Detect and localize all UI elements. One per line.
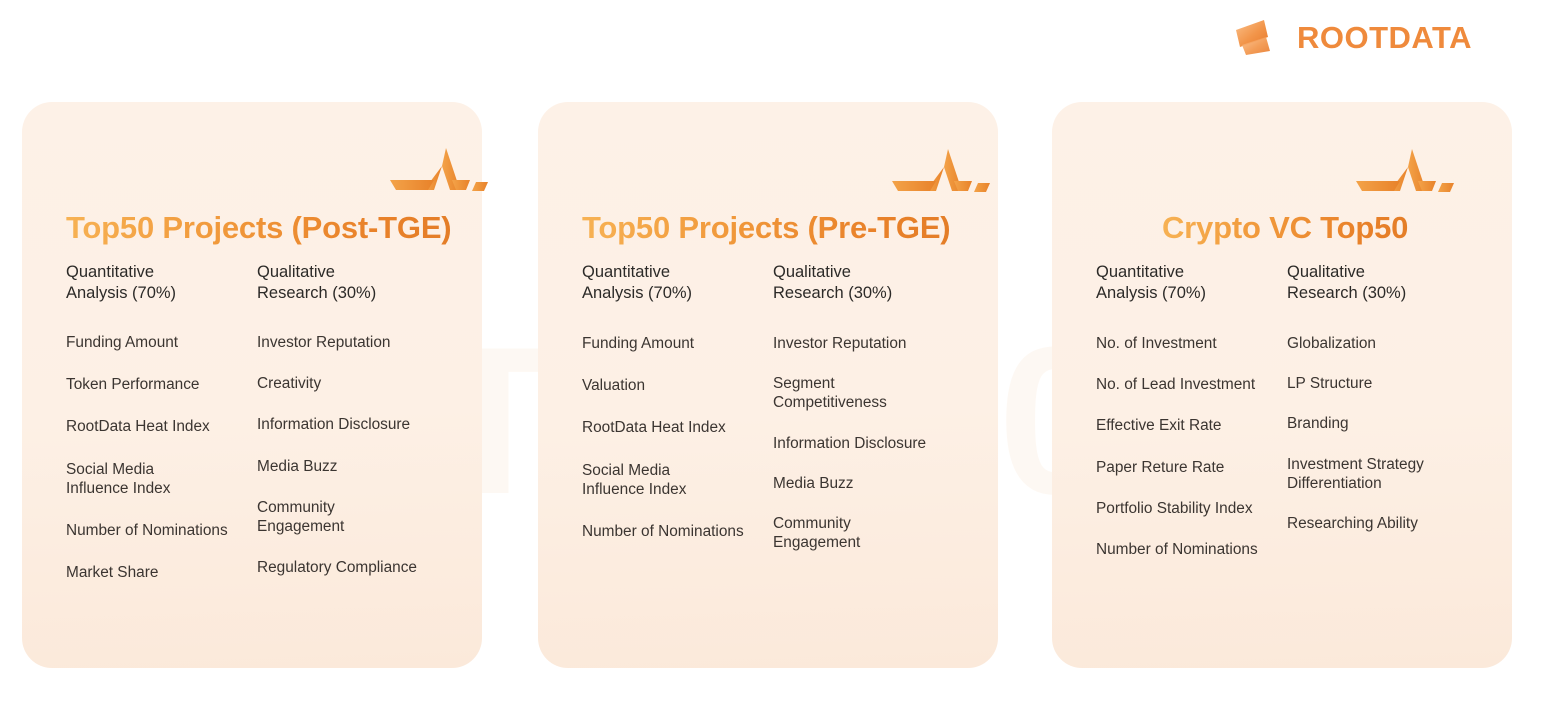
card-header: Top50 Projects (Pre-TGE) bbox=[572, 102, 964, 252]
list-item: Number of Nominations bbox=[1096, 540, 1287, 559]
list-item: Investor Reputation bbox=[257, 333, 448, 352]
criteria-list: No. of Investment No. of Lead Investment… bbox=[1096, 334, 1287, 559]
list-item: Segment Competitiveness bbox=[773, 374, 964, 412]
criteria-list: Investor Reputation Creativity Informati… bbox=[257, 333, 448, 577]
rootdata-peak-icon bbox=[390, 146, 488, 192]
column-qualitative: Qualitative Research (30%) Investor Repu… bbox=[773, 262, 964, 573]
list-item: Branding bbox=[1287, 414, 1478, 433]
rootdata-peak-icon bbox=[1356, 147, 1454, 193]
list-item: RootData Heat Index bbox=[66, 417, 257, 436]
list-item: Effective Exit Rate bbox=[1096, 416, 1287, 435]
column-heading: Quantitative Analysis (70%) bbox=[66, 262, 257, 304]
list-item: Information Disclosure bbox=[257, 415, 448, 434]
column-heading: Qualitative Research (30%) bbox=[1287, 262, 1478, 304]
list-item: Investor Reputation bbox=[773, 334, 964, 353]
card-header: Top50 Projects (Post-TGE) bbox=[56, 102, 448, 252]
list-item: Paper Reture Rate bbox=[1096, 458, 1287, 477]
list-item: Researching Ability bbox=[1287, 514, 1478, 533]
card-columns: Quantitative Analysis (70%) Funding Amou… bbox=[572, 252, 964, 573]
criteria-list: Globalization LP Structure Branding Inve… bbox=[1287, 334, 1478, 533]
list-item: Valuation bbox=[582, 376, 773, 395]
rootdata-brand-logo: ROOTDATA bbox=[1234, 18, 1472, 56]
list-item: Media Buzz bbox=[257, 457, 448, 476]
column-heading: Quantitative Analysis (70%) bbox=[1096, 262, 1287, 304]
list-item: Information Disclosure bbox=[773, 434, 964, 453]
card-title: Crypto VC Top50 bbox=[1162, 210, 1408, 246]
rootdata-peak-icon bbox=[892, 147, 990, 193]
card-top50-post-tge: Top50 Projects (Post-TGE) Quantitative A… bbox=[22, 102, 482, 668]
card-columns: Quantitative Analysis (70%) Funding Amou… bbox=[56, 252, 448, 605]
list-item: Community Engagement bbox=[257, 498, 448, 536]
list-item: Token Performance bbox=[66, 375, 257, 394]
card-header: Crypto VC Top50 bbox=[1086, 102, 1478, 252]
list-item: Social Media Influence Index bbox=[66, 460, 257, 498]
column-qualitative: Qualitative Research (30%) Investor Repu… bbox=[257, 262, 448, 605]
list-item: Market Share bbox=[66, 563, 257, 582]
list-item: Investment Strategy Differentiation bbox=[1287, 455, 1478, 493]
list-item: Funding Amount bbox=[66, 333, 257, 352]
column-quantitative: Quantitative Analysis (70%) Funding Amou… bbox=[582, 262, 773, 573]
criteria-list: Funding Amount Token Performance RootDat… bbox=[66, 333, 257, 582]
list-item: Media Buzz bbox=[773, 474, 964, 493]
card-title: Top50 Projects (Pre-TGE) bbox=[582, 210, 950, 246]
list-item: No. of Investment bbox=[1096, 334, 1287, 353]
list-item: Number of Nominations bbox=[66, 521, 257, 540]
list-item: Regulatory Compliance bbox=[257, 558, 448, 577]
list-item: Funding Amount bbox=[582, 334, 773, 353]
card-crypto-vc-top50: Crypto VC Top50 Quantitative Analysis (7… bbox=[1052, 102, 1512, 668]
list-item: LP Structure bbox=[1287, 374, 1478, 393]
criteria-list: Funding Amount Valuation RootData Heat I… bbox=[582, 334, 773, 541]
card-title: Top50 Projects (Post-TGE) bbox=[66, 210, 451, 246]
card-top50-pre-tge: Top50 Projects (Pre-TGE) Quantitative An… bbox=[538, 102, 998, 668]
column-quantitative: Quantitative Analysis (70%) Funding Amou… bbox=[66, 262, 257, 605]
list-item: Globalization bbox=[1287, 334, 1478, 353]
brand-name: ROOTDATA bbox=[1297, 22, 1472, 53]
column-heading: Qualitative Research (30%) bbox=[773, 262, 964, 304]
criteria-cards-container: Top50 Projects (Post-TGE) Quantitative A… bbox=[0, 0, 1550, 702]
list-item: Portfolio Stability Index bbox=[1096, 499, 1287, 518]
list-item: Creativity bbox=[257, 374, 448, 393]
list-item: Community Engagement bbox=[773, 514, 964, 552]
list-item: Social Media Influence Index bbox=[582, 461, 773, 499]
column-heading: Quantitative Analysis (70%) bbox=[582, 262, 773, 304]
column-quantitative: Quantitative Analysis (70%) No. of Inves… bbox=[1096, 262, 1287, 581]
list-item: RootData Heat Index bbox=[582, 418, 773, 437]
criteria-list: Investor Reputation Segment Competitiven… bbox=[773, 334, 964, 552]
list-item: Number of Nominations bbox=[582, 522, 773, 541]
list-item: No. of Lead Investment bbox=[1096, 375, 1287, 394]
column-heading: Qualitative Research (30%) bbox=[257, 262, 448, 304]
rootdata-logo-icon bbox=[1234, 18, 1288, 56]
column-qualitative: Qualitative Research (30%) Globalization… bbox=[1287, 262, 1478, 581]
card-columns: Quantitative Analysis (70%) No. of Inves… bbox=[1086, 252, 1478, 581]
